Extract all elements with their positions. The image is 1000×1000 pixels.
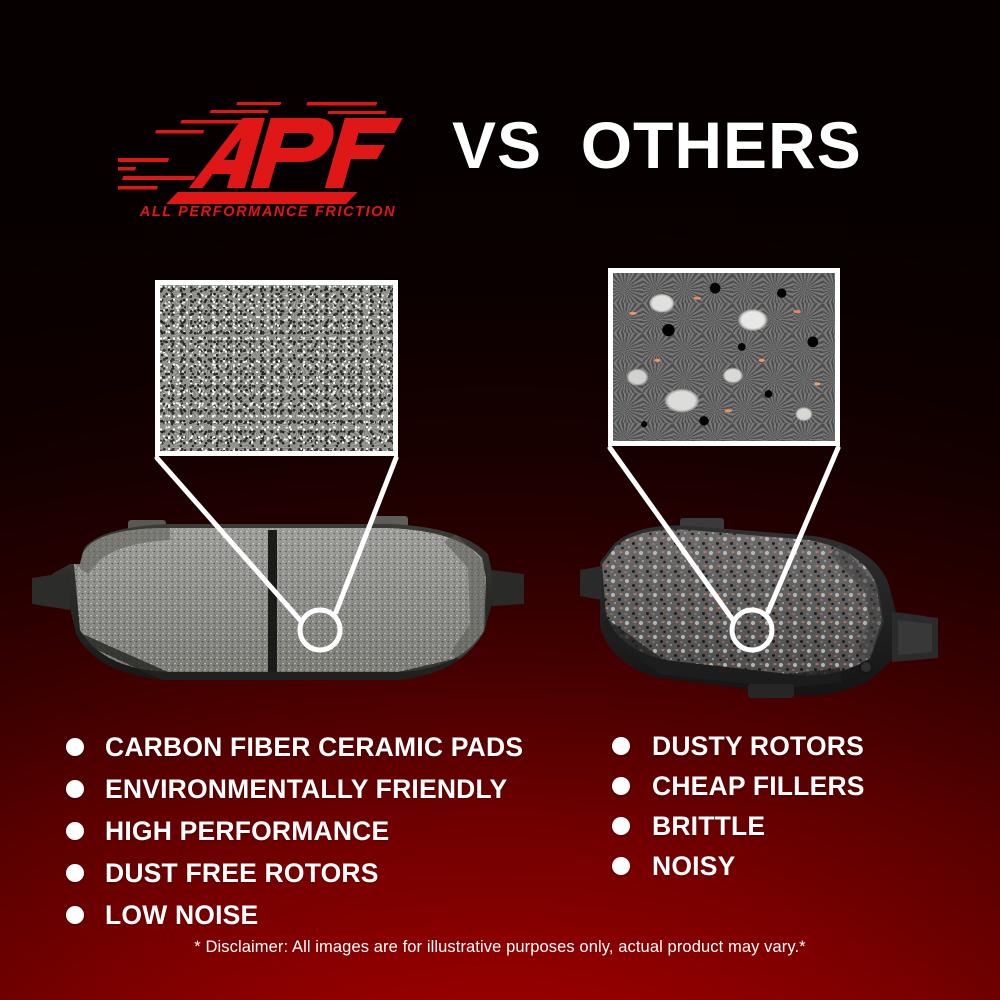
pad-left-ear — [580, 566, 602, 600]
feature-label: BRITTLE — [652, 813, 765, 840]
apf-feature-list: CARBON FIBER CERAMIC PADS ENVIRONMENTALL… — [66, 726, 586, 936]
others-feature-list: DUSTY ROTORS CHEAP FILLERS BRITTLE NOISY — [612, 726, 952, 886]
feature-label: HIGH PERFORMANCE — [105, 818, 389, 845]
list-item: BRITTLE — [612, 806, 952, 846]
bullet-icon — [612, 857, 630, 875]
header: ALL PERFORMANCE FRICTION VS OTHERS — [0, 96, 1000, 236]
bullet-icon — [612, 777, 630, 795]
list-item: CARBON FIBER CERAMIC PADS — [66, 726, 586, 768]
bullet-icon — [612, 817, 630, 835]
feature-label: LOW NOISE — [105, 902, 258, 929]
pad-right-clip-highlight — [898, 620, 932, 655]
page-title: VS OTHERS — [452, 112, 932, 178]
apf-logo-icon — [118, 100, 418, 210]
feature-label: DUSTY ROTORS — [652, 733, 864, 760]
list-item: DUST FREE ROTORS — [66, 852, 586, 894]
bullet-icon — [66, 822, 84, 840]
pad-center-slot — [268, 530, 277, 676]
others-material-inset — [608, 268, 840, 446]
bullet-icon — [66, 864, 84, 882]
product-comparison-graphic: ALL PERFORMANCE FRICTION VS OTHERS — [0, 0, 1000, 1000]
apf-material-texture — [160, 285, 393, 451]
list-item: DUSTY ROTORS — [612, 726, 952, 766]
bullet-icon — [612, 737, 630, 755]
others-brake-pad — [540, 508, 940, 708]
pad-left-ear — [32, 572, 70, 610]
apf-brake-pad — [18, 512, 528, 702]
apf-logo: ALL PERFORMANCE FRICTION — [118, 100, 418, 230]
pad-rivet-highlight — [861, 662, 871, 672]
bullet-icon — [66, 780, 84, 798]
list-item: ENVIRONMENTALLY FRIENDLY — [66, 768, 586, 810]
pad-right-ear — [492, 570, 524, 606]
brand-tagline: ALL PERFORMANCE FRICTION — [118, 204, 418, 220]
feature-label: ENVIRONMENTALLY FRIENDLY — [105, 776, 507, 803]
disclaimer-text: * Disclaimer: All images are for illustr… — [0, 938, 1000, 957]
list-item: NOISY — [612, 846, 952, 886]
feature-label: CARBON FIBER CERAMIC PADS — [105, 734, 523, 761]
bullet-icon — [66, 738, 84, 756]
pad-friction-material — [74, 528, 486, 682]
bullet-icon — [66, 906, 84, 924]
apf-material-inset — [155, 280, 398, 456]
list-item: CHEAP FILLERS — [612, 766, 952, 806]
feature-label: NOISY — [652, 853, 735, 880]
list-item: LOW NOISE — [66, 894, 586, 936]
feature-label: DUST FREE ROTORS — [105, 860, 379, 887]
others-material-texture — [613, 273, 835, 441]
feature-label: CHEAP FILLERS — [652, 773, 865, 800]
pad-bottom-tab — [748, 684, 794, 698]
list-item: HIGH PERFORMANCE — [66, 810, 586, 852]
